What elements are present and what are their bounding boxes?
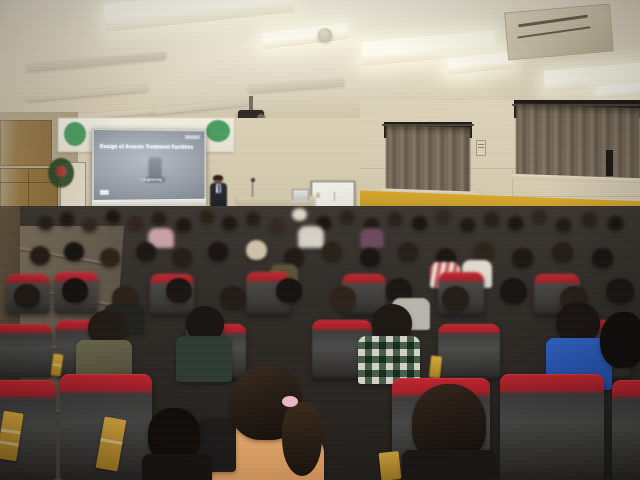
audience-head xyxy=(62,278,88,303)
foreground-person-right xyxy=(404,384,514,480)
audience-head xyxy=(222,216,237,230)
audience-head xyxy=(60,212,74,226)
lecture-hall-photo: ··· ···· Design of Arsenic Treatment Fac… xyxy=(0,0,640,480)
audience-head xyxy=(166,278,192,303)
armrest-scuff xyxy=(1,429,21,435)
table-item xyxy=(262,193,266,198)
slide-presenter-line-1: · · · xyxy=(94,172,204,176)
audience-head xyxy=(246,212,260,225)
audience-head xyxy=(64,242,84,261)
panel-slot xyxy=(478,147,484,148)
auditorium-seat[interactable] xyxy=(500,374,604,480)
audience-head xyxy=(500,278,527,304)
foreground-person-left xyxy=(148,402,228,480)
audience-head xyxy=(152,212,166,225)
wall-control-panel[interactable] xyxy=(476,140,486,156)
ponytail-woman-hair-tail xyxy=(282,402,322,476)
presenter-tie xyxy=(218,185,220,194)
table-item xyxy=(316,193,320,198)
audience-head-light xyxy=(246,240,267,260)
audience-head xyxy=(582,212,597,226)
audience-head xyxy=(532,210,546,223)
audience-head xyxy=(552,242,573,262)
wall-wreath-decoration xyxy=(48,158,74,188)
slide-logo-bottom-left xyxy=(100,190,109,195)
ceiling-air-vent xyxy=(504,3,614,60)
audience-head-white-cap xyxy=(292,208,307,221)
table-item xyxy=(278,194,283,198)
slide-logo-top-right xyxy=(185,135,200,139)
audience-head xyxy=(412,216,427,230)
audience-head xyxy=(398,242,418,261)
seat-armrest xyxy=(379,451,402,480)
armrest-scuff xyxy=(0,440,19,446)
audience-head xyxy=(474,242,494,261)
audience-head xyxy=(200,210,214,223)
slide-title: Design of Arsenic Treatment Facilities xyxy=(100,144,201,151)
ponytail-hair-tie xyxy=(282,396,298,407)
presenter-laptop xyxy=(292,189,309,202)
microphone-stand xyxy=(252,180,253,197)
audience-head xyxy=(436,210,450,223)
audience-torso-dark xyxy=(402,450,496,480)
audience-head xyxy=(606,278,634,304)
table-item xyxy=(270,192,273,198)
audience-head xyxy=(322,242,342,261)
ceiling-speaker xyxy=(318,28,332,41)
audience-head xyxy=(136,242,156,261)
audience-head xyxy=(508,216,523,230)
audience-head xyxy=(38,216,53,230)
audience-head xyxy=(600,312,640,368)
window-gap-right xyxy=(606,150,613,176)
whiteboard-marking xyxy=(334,192,335,201)
audience-head xyxy=(484,212,499,226)
audience-torso-dark xyxy=(142,454,212,480)
audience-head xyxy=(276,278,302,303)
auditorium-seat[interactable] xyxy=(612,380,640,480)
audience-head xyxy=(208,242,228,261)
audience-head xyxy=(340,210,354,223)
presentation-slide: Design of Arsenic Treatment Facilities ·… xyxy=(94,130,204,200)
audience-head xyxy=(128,216,143,230)
banner-green-circle-left xyxy=(64,122,86,146)
panel-slot xyxy=(478,144,484,145)
auditorium-seating-area xyxy=(0,206,640,480)
audience-head xyxy=(608,216,623,230)
banner-green-circle-right xyxy=(206,120,230,142)
audience-head xyxy=(388,212,402,225)
slide-presenter-line-2: ··· Engineering xyxy=(94,177,204,181)
presenter-hair xyxy=(213,175,223,180)
window-curtain-right xyxy=(516,104,640,180)
slide-presenter-line-3: ··· ·· ·· xyxy=(94,183,204,188)
audience-head xyxy=(106,210,120,223)
projection-screen: Design of Arsenic Treatment Facilities ·… xyxy=(92,128,206,208)
panel-groove xyxy=(0,182,58,183)
audience-head xyxy=(30,246,50,265)
window-curtain-left xyxy=(386,125,470,194)
armrest-scuff xyxy=(100,438,122,445)
wooden-wall-panel-upper xyxy=(0,120,52,166)
